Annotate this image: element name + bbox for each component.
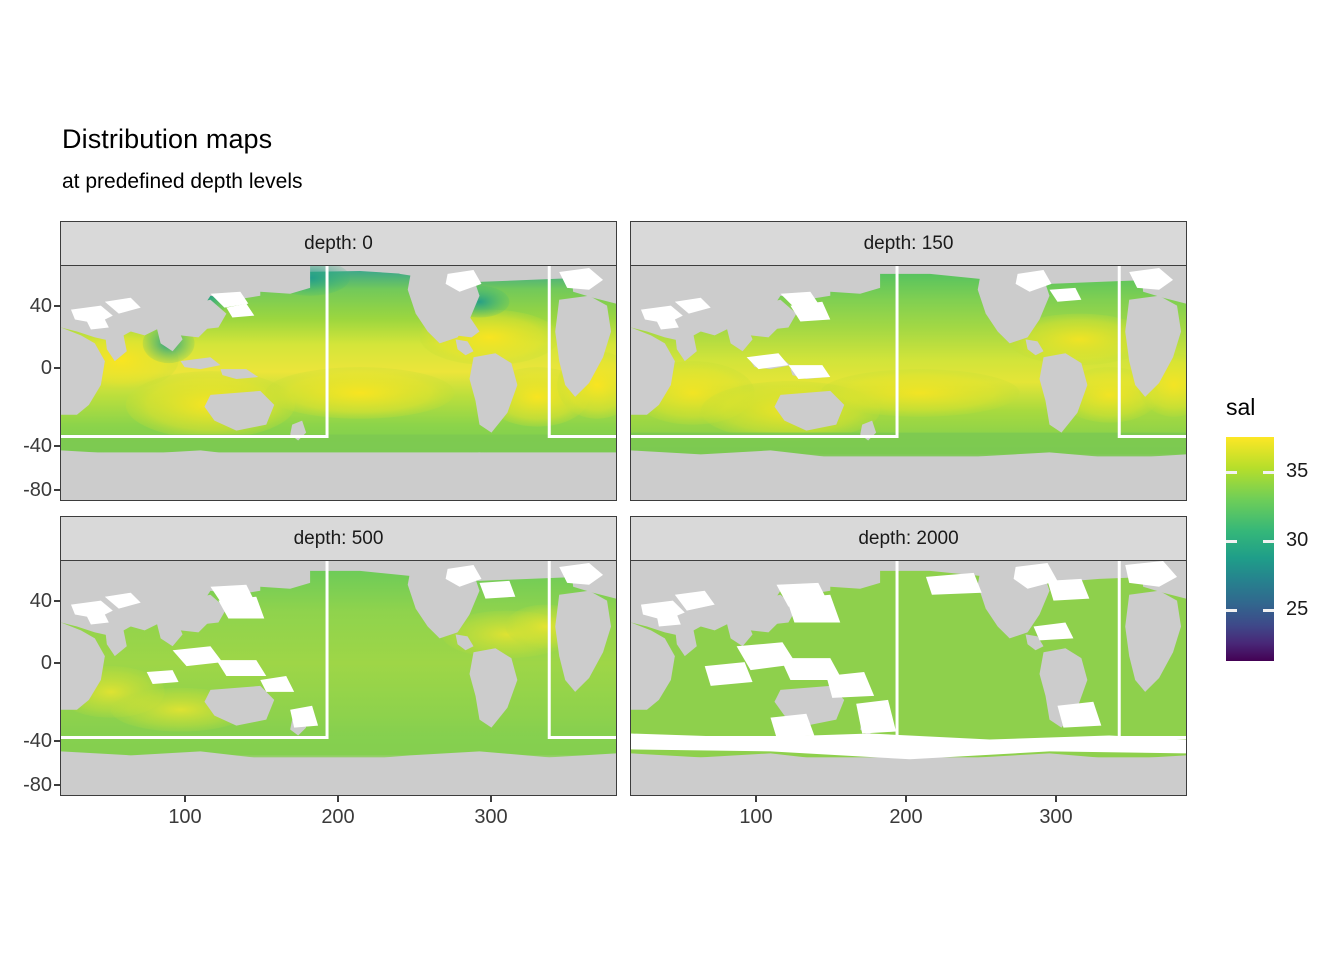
x-tick-mark — [490, 796, 492, 802]
world-map-svg-depth-2000 — [631, 561, 1186, 795]
legend-tick-mark — [1226, 471, 1237, 474]
facet-strip-label: depth: 150 — [864, 233, 954, 255]
legend-title: sal — [1226, 394, 1255, 421]
y-tick-label-0-row2: 0 — [0, 652, 52, 675]
legend-tick-mark — [1226, 540, 1237, 543]
facet-strip-depth-2000: depth: 2000 — [630, 516, 1187, 561]
facet-strip-label: depth: 0 — [304, 233, 373, 255]
x-tick-mark — [184, 796, 186, 802]
x-tick-label-300-col1: 300 — [459, 806, 523, 829]
legend-tick-mark — [1226, 609, 1237, 612]
legend-tick-mark — [1263, 609, 1274, 612]
y-tick-label-40-row1: 40 — [0, 295, 52, 318]
y-tick-label-0-row1: 0 — [0, 357, 52, 380]
facet-strip-label: depth: 2000 — [858, 528, 958, 550]
page-title: Distribution maps — [62, 124, 272, 155]
x-tick-label-200-col1: 200 — [306, 806, 370, 829]
y-tick-label-40-row2: 40 — [0, 590, 52, 613]
map-canvas-depth-2000[interactable] — [630, 560, 1187, 796]
map-canvas-depth-0[interactable] — [60, 265, 617, 501]
legend-label-35: 35 — [1286, 460, 1308, 483]
y-tick-label-m80-row2: -80 — [0, 774, 52, 797]
facet-panel-depth-2000: depth: 2000 — [630, 516, 1187, 796]
x-tick-mark — [905, 796, 907, 802]
facet-panel-depth-500: depth: 500 — [60, 516, 617, 796]
legend-tick-mark — [1263, 540, 1274, 543]
legend-colorbar[interactable] — [1226, 437, 1274, 661]
facet-strip-depth-500: depth: 500 — [60, 516, 617, 561]
x-tick-mark — [755, 796, 757, 802]
world-map-svg-depth-500 — [61, 561, 616, 795]
y-tick-label-m40-row2: -40 — [0, 730, 52, 753]
y-tick-label-m80-row1: -80 — [0, 479, 52, 502]
facet-strip-label: depth: 500 — [294, 528, 384, 550]
legend-label-25: 25 — [1286, 598, 1308, 621]
facet-strip-depth-0: depth: 0 — [60, 221, 617, 266]
facet-panel-depth-0: depth: 0 — [60, 221, 617, 501]
world-map-svg-depth-0 — [61, 266, 616, 500]
y-tick-label-m40-row1: -40 — [0, 435, 52, 458]
x-tick-mark — [1055, 796, 1057, 802]
map-canvas-depth-500[interactable] — [60, 560, 617, 796]
x-tick-label-100-col1: 100 — [153, 806, 217, 829]
facet-panel-depth-150: depth: 150 — [630, 221, 1187, 501]
facet-strip-depth-150: depth: 150 — [630, 221, 1187, 266]
x-tick-label-100-col2: 100 — [724, 806, 788, 829]
map-canvas-depth-150[interactable] — [630, 265, 1187, 501]
legend-label-30: 30 — [1286, 529, 1308, 552]
x-tick-mark — [337, 796, 339, 802]
world-map-svg-depth-150 — [631, 266, 1186, 500]
page-subtitle: at predefined depth levels — [62, 170, 303, 194]
x-tick-label-300-col2: 300 — [1024, 806, 1088, 829]
x-tick-label-200-col2: 200 — [874, 806, 938, 829]
legend-tick-mark — [1263, 471, 1274, 474]
